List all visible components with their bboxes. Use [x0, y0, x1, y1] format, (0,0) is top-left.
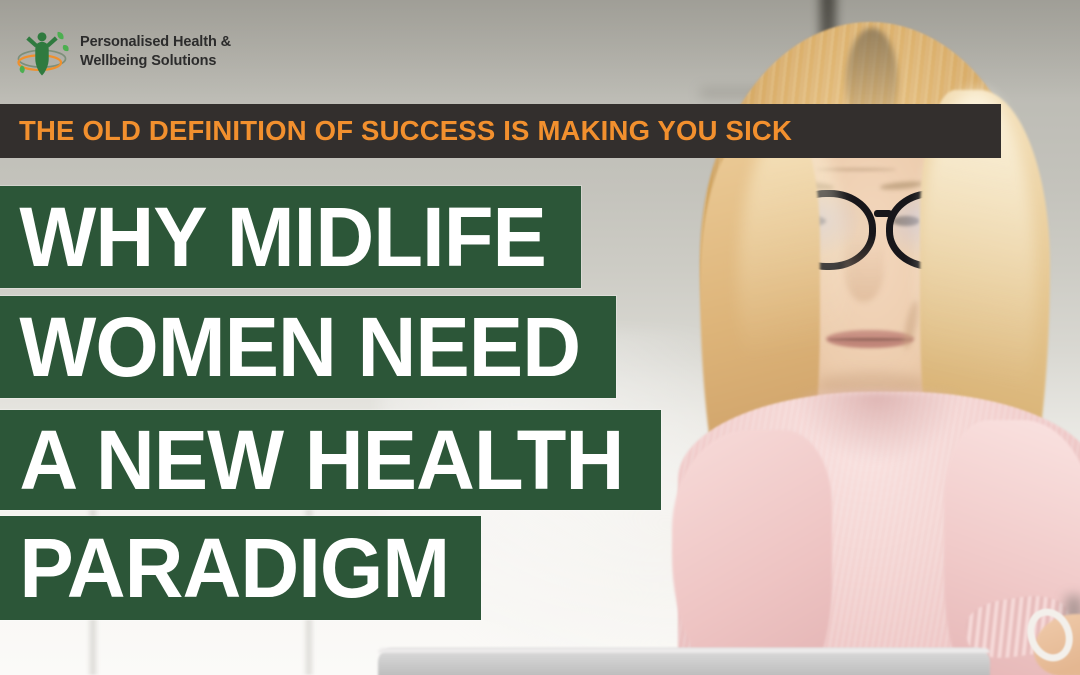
headline-line-2: WOMEN NEED — [0, 296, 616, 398]
headline-bar-3: A NEW HEALTH — [0, 410, 661, 510]
brand-logo[interactable]: Personalised Health & Wellbeing Solution… — [14, 24, 231, 80]
laptop-lid-edge — [378, 648, 990, 653]
woman-subject — [648, 0, 1080, 675]
headline-line-1: WHY MIDLIFE — [0, 186, 581, 288]
eyeglass-bridge — [874, 210, 892, 217]
arm-left — [672, 430, 832, 675]
thumbnail-canvas: Personalised Health & Wellbeing Solution… — [0, 0, 1080, 675]
headline-bar-2: WOMEN NEED — [0, 296, 616, 398]
wellness-person-logo-icon — [14, 24, 70, 80]
headline-line-4: PARADIGM — [0, 516, 481, 620]
sweater-collar — [798, 392, 958, 462]
headline-text-1: WHY MIDLIFE — [0, 195, 563, 279]
headline-text-2: WOMEN NEED — [0, 305, 598, 389]
kicker-banner: THE OLD DEFINITION OF SUCCESS IS MAKING … — [0, 104, 1001, 158]
nose — [844, 236, 884, 302]
kicker-text: THE OLD DEFINITION OF SUCCESS IS MAKING … — [0, 115, 792, 147]
headline-text-4: PARADIGM — [0, 526, 467, 610]
headline-text-3: A NEW HEALTH — [0, 418, 641, 502]
headline-line-3: A NEW HEALTH — [0, 410, 661, 510]
brand-name: Personalised Health & Wellbeing Solution… — [80, 33, 231, 70]
headline-bar-1: WHY MIDLIFE — [0, 186, 581, 288]
headline-bar-4: PARADIGM — [0, 516, 481, 620]
